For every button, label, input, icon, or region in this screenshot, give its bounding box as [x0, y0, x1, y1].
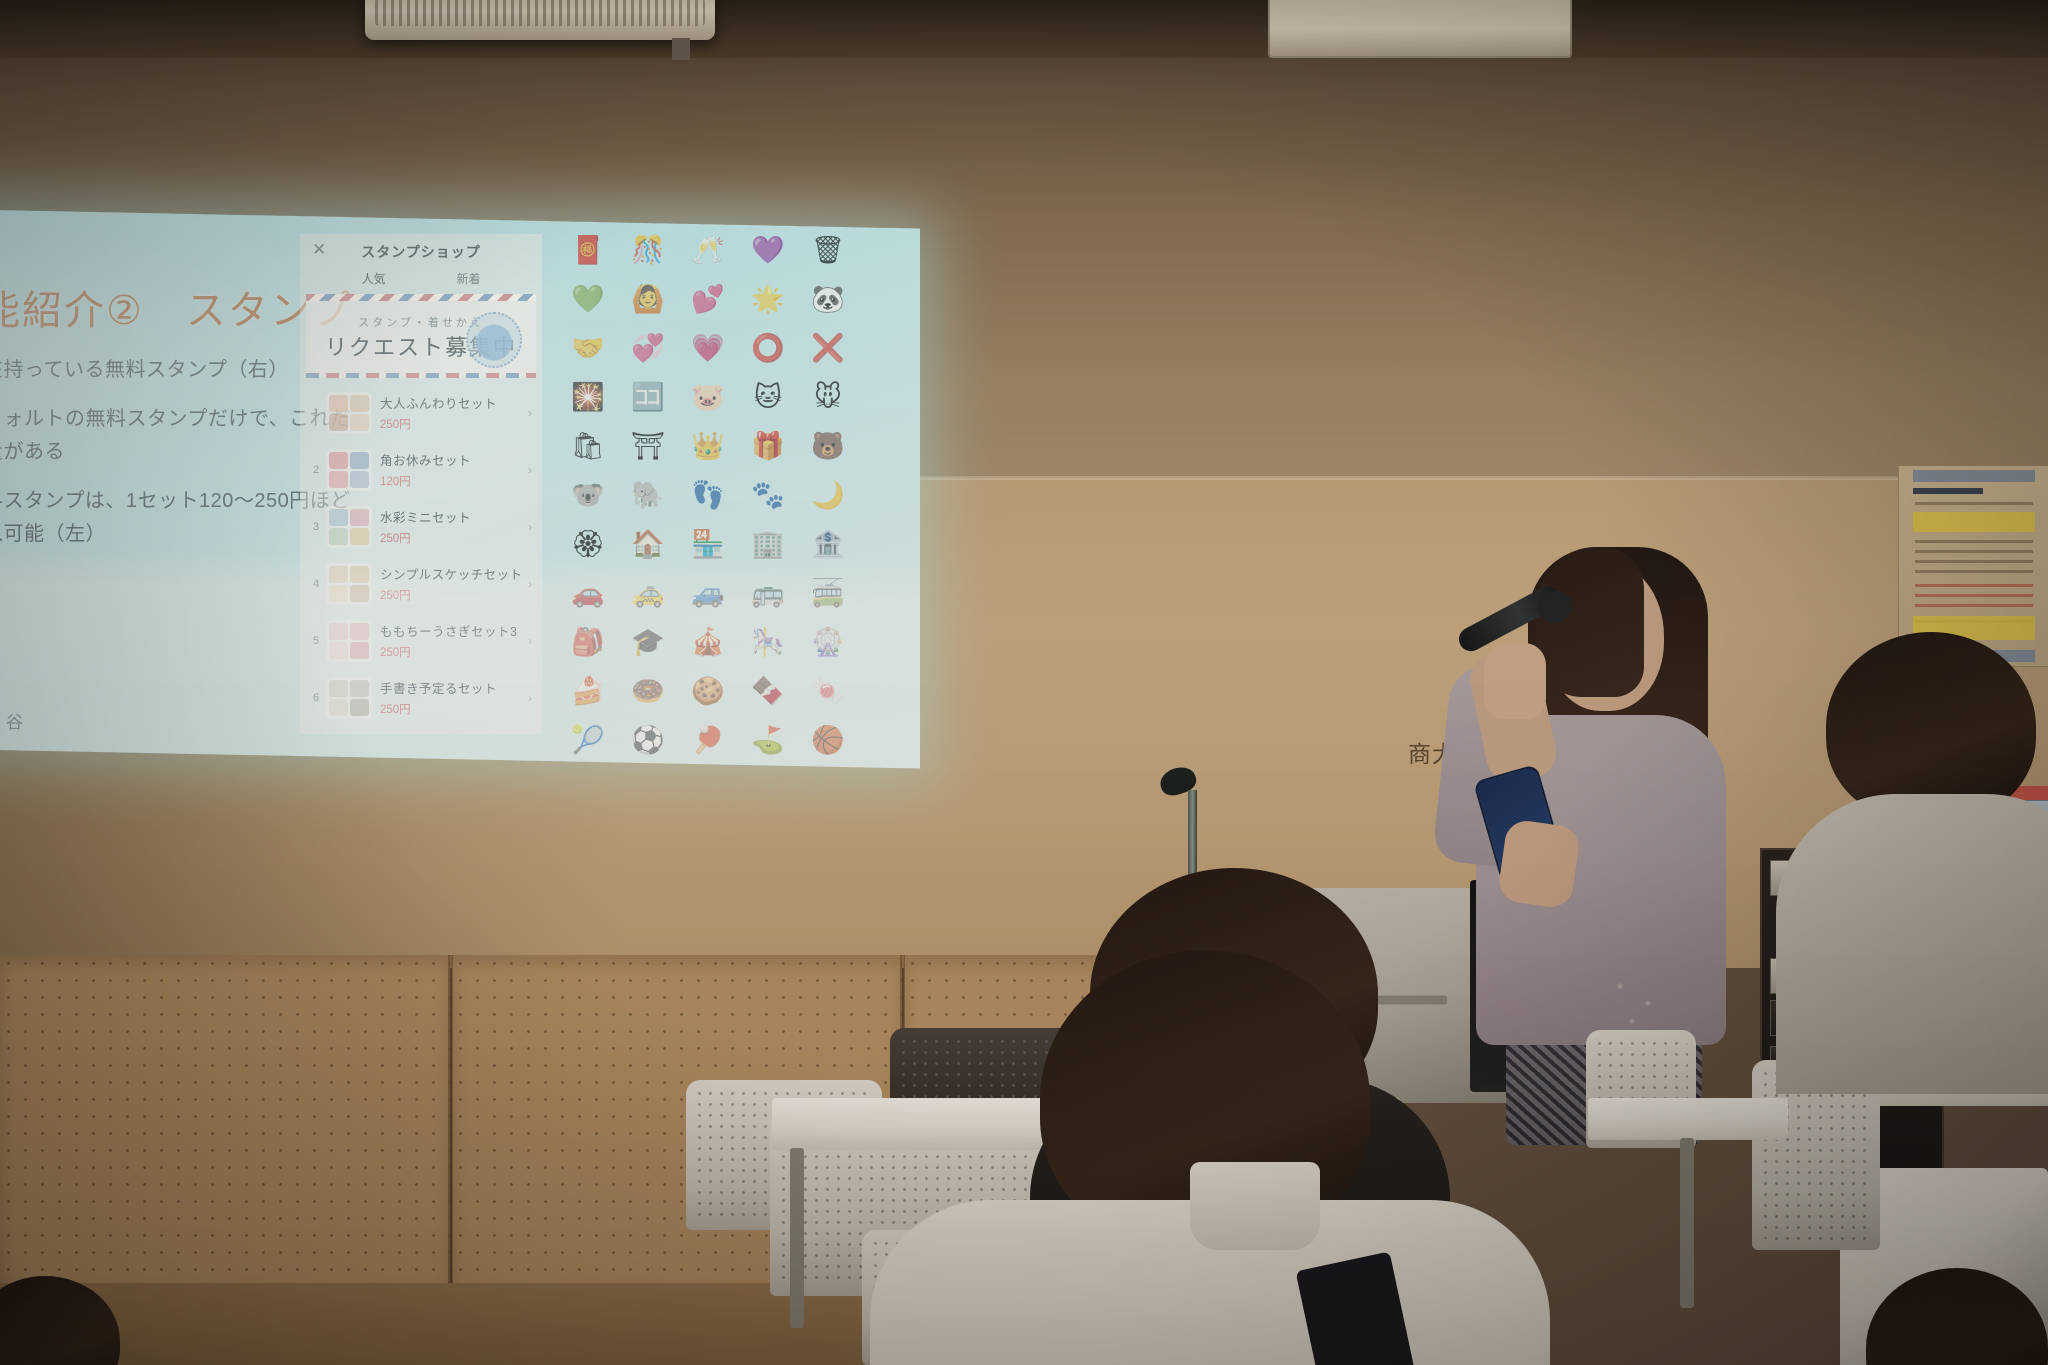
- sticker-icon: 💜: [745, 230, 791, 270]
- stamp-item-meta: 水彩ミニセット250円: [380, 507, 528, 546]
- sweatshirt-print: [1596, 965, 1676, 1035]
- stamp-item-rank: 2: [308, 464, 324, 476]
- stamp-item-price: 120円: [380, 473, 528, 489]
- sticker-icon: ⛳: [745, 720, 791, 760]
- sticker-icon: 🏪: [685, 524, 731, 564]
- stamp-item-name: シンプルスケッチセット: [380, 564, 528, 583]
- ceiling-vent: [1268, 0, 1572, 58]
- stamp-item-meta: ももちーうさぎセット3250円: [380, 621, 528, 660]
- table: [1588, 1098, 1788, 1140]
- sticker-icon: 🤝: [565, 328, 611, 368]
- ceiling-projector: [365, 0, 715, 40]
- sticker-icon: 🚙: [685, 573, 731, 613]
- sticker-icon: 🎠: [745, 622, 791, 662]
- chevron-right-icon: ›: [528, 577, 534, 591]
- sticker-grid: 🧧🎊🥂💜🗑💚🙆💕🌟🐼🤝💞💗⭕❌🎇🈁🐷🐱🐭🛍⛩👑🎁🐻🐨🐘👣🐾🌙🏵🏠🏪🏢🏦🚗🚕🚙🚌🚎…: [565, 230, 855, 769]
- stamp-item-rank: 1: [308, 407, 324, 419]
- sticker-icon: 🧧: [565, 230, 611, 270]
- sticker-icon: 🏠: [625, 524, 671, 564]
- stamp-item-row[interactable]: 1大人ふんわりセット250円›: [308, 384, 534, 441]
- poster-clip: [1913, 470, 2035, 482]
- sticker-icon: 🈁: [625, 377, 671, 417]
- sticker-icon: 🐨: [565, 475, 611, 515]
- sticker-icon: 🐱: [745, 377, 791, 417]
- sticker-icon: 🗑: [805, 230, 851, 270]
- sticker-icon: 🍫: [745, 671, 791, 711]
- presenter-hand: [1484, 643, 1546, 719]
- slide-footer: 担当：谷: [0, 708, 24, 733]
- stamp-item-price: 250円: [380, 416, 528, 432]
- chevron-right-icon: ›: [528, 463, 534, 477]
- stamp-item-name: 水彩ミニセット: [380, 507, 528, 526]
- sticker-icon: 🎓: [625, 622, 671, 662]
- sticker-icon: 🙆: [625, 279, 671, 319]
- chevron-right-icon: ›: [528, 520, 534, 534]
- sticker-icon: 🐘: [625, 475, 671, 515]
- sticker-icon: 🚗: [565, 573, 611, 613]
- pegboard-divider: [448, 955, 453, 1285]
- stamp-item-row[interactable]: 3水彩ミニセット250円›: [308, 498, 534, 555]
- stamp-shop-tabs: 人気 新着: [300, 270, 542, 292]
- sticker-icon: 💚: [565, 279, 611, 319]
- stamp-item-rank: 5: [308, 635, 324, 647]
- stamp-item-name: ももちーうさぎセット3: [380, 621, 528, 640]
- tab-new[interactable]: 新着: [456, 270, 480, 287]
- sticker-icon: 🌙: [805, 475, 851, 515]
- projection-screen: 機能紹介② スタンプ ・現在持っている無料スタンプ（右） ・デフォルトの無料スタ…: [0, 203, 920, 768]
- request-banner[interactable]: スタンプ・着せかえ リクエスト募集中: [306, 294, 536, 378]
- stamp-item-meta: 大人ふんわりセット250円: [380, 393, 528, 432]
- sticker-icon: 💞: [625, 328, 671, 368]
- sticker-icon: 👑: [685, 426, 731, 466]
- sticker-icon: ❌: [805, 328, 851, 368]
- poster-title-bar: [1913, 488, 1983, 494]
- stamp-item-price: 250円: [380, 644, 528, 660]
- sticker-icon: 🍪: [685, 671, 731, 711]
- sticker-icon: 🚕: [625, 573, 671, 613]
- chevron-right-icon: ›: [528, 406, 534, 420]
- sticker-icon: 🎊: [625, 230, 671, 270]
- projector-mount: [672, 38, 690, 60]
- stamp-item-list: 1大人ふんわりセット250円›2角お休みセット120円›3水彩ミニセット250円…: [300, 378, 542, 726]
- stamp-item-meta: シンプルスケッチセット250円: [380, 564, 528, 603]
- sticker-icon: 🛍: [565, 426, 611, 466]
- stamp-shop-header: ✕ スタンプショップ: [300, 234, 542, 270]
- slide-content: 機能紹介② スタンプ ・現在持っている無料スタンプ（右） ・デフォルトの無料スタ…: [0, 222, 920, 762]
- photo-scene: 機能紹介② スタンプ ・現在持っている無料スタンプ（右） ・デフォルトの無料スタ…: [0, 0, 2048, 1365]
- sticker-icon: 🐭: [805, 377, 851, 417]
- pegboard-panel: [0, 955, 450, 1285]
- postmark-seal-icon: [466, 312, 522, 368]
- stamp-item-meta: 手書き予定るセット250円: [380, 678, 528, 717]
- stamp-item-name: 手書き予定るセット: [380, 678, 528, 697]
- sticker-icon: 🌟: [745, 279, 791, 319]
- sticker-icon: 🎁: [745, 426, 791, 466]
- sticker-icon: 🚌: [745, 573, 791, 613]
- stamp-item-thumbnail: [326, 563, 372, 605]
- sticker-icon: 🍬: [805, 671, 851, 711]
- sticker-icon: 🏢: [745, 524, 791, 564]
- sticker-icon: ⚽: [625, 720, 671, 760]
- sticker-icon: 🏵: [565, 524, 611, 564]
- stamp-item-name: 角お休みセット: [380, 450, 528, 469]
- sticker-icon: 🐻: [805, 426, 851, 466]
- sticker-icon: 🍰: [565, 671, 611, 711]
- sticker-icon: 💕: [685, 279, 731, 319]
- table-leg: [790, 1148, 804, 1328]
- stamp-shop-screenshot: ✕ スタンプショップ 人気 新着 スタンプ・着せかえ リクエスト募集中 1大人ふ…: [300, 234, 542, 734]
- stamp-item-row[interactable]: 2角お休みセット120円›: [308, 441, 534, 498]
- stamp-item-row[interactable]: 6手書き予定るセット250円›: [308, 669, 534, 726]
- stamp-item-row[interactable]: 5ももちーうさぎセット3250円›: [308, 612, 534, 669]
- chevron-right-icon: ›: [528, 691, 534, 705]
- stamp-item-price: 250円: [380, 530, 528, 546]
- stamp-item-row[interactable]: 4シンプルスケッチセット250円›: [308, 555, 534, 612]
- stamp-item-rank: 6: [308, 692, 324, 704]
- sticker-icon: ⭕: [745, 328, 791, 368]
- presenter-hand-lower: [1497, 818, 1582, 910]
- stamp-item-price: 250円: [380, 587, 528, 603]
- sticker-icon: 🎇: [565, 377, 611, 417]
- stamp-item-rank: 4: [308, 578, 324, 590]
- sticker-icon: 🐼: [805, 279, 851, 319]
- stamp-item-price: 250円: [380, 701, 528, 717]
- tab-popular[interactable]: 人気: [361, 270, 385, 287]
- sticker-icon: 🐾: [745, 475, 791, 515]
- chevron-right-icon: ›: [528, 634, 534, 648]
- sticker-icon: 🎾: [565, 720, 611, 760]
- stamp-item-thumbnail: [326, 392, 372, 434]
- sticker-icon: 🏀: [805, 720, 851, 760]
- sticker-icon: 🏓: [685, 720, 731, 760]
- stamp-item-thumbnail: [326, 677, 372, 719]
- sticker-icon: 🥂: [685, 230, 731, 270]
- table-leg: [1680, 1138, 1694, 1308]
- sticker-icon: 👣: [685, 475, 731, 515]
- sticker-icon: 🐷: [685, 377, 731, 417]
- presenter: [1450, 555, 1750, 1035]
- sticker-icon: 🎡: [805, 622, 851, 662]
- stamp-item-rank: 3: [308, 521, 324, 533]
- stamp-item-meta: 角お休みセット120円: [380, 450, 528, 489]
- sticker-icon: 🚎: [805, 573, 851, 613]
- stamp-item-thumbnail: [326, 506, 372, 548]
- stamp-item-thumbnail: [326, 449, 372, 491]
- sticker-icon: 💗: [685, 328, 731, 368]
- sticker-icon: 🍩: [625, 671, 671, 711]
- poster-highlight: [1913, 512, 2035, 532]
- stamp-item-thumbnail: [326, 620, 372, 662]
- stamp-shop-title: スタンプショップ: [300, 242, 542, 262]
- airmail-stripe-bottom: [306, 373, 536, 378]
- sticker-icon: 🎪: [685, 622, 731, 662]
- ceiling-band: [0, 0, 2048, 58]
- sticker-icon: 🏦: [805, 524, 851, 564]
- sticker-icon: 🎒: [565, 622, 611, 662]
- stamp-item-name: 大人ふんわりセット: [380, 393, 528, 412]
- airmail-stripe-top: [306, 294, 536, 301]
- sticker-icon: ⛩: [625, 426, 671, 466]
- projector-grill-icon: [375, 0, 705, 26]
